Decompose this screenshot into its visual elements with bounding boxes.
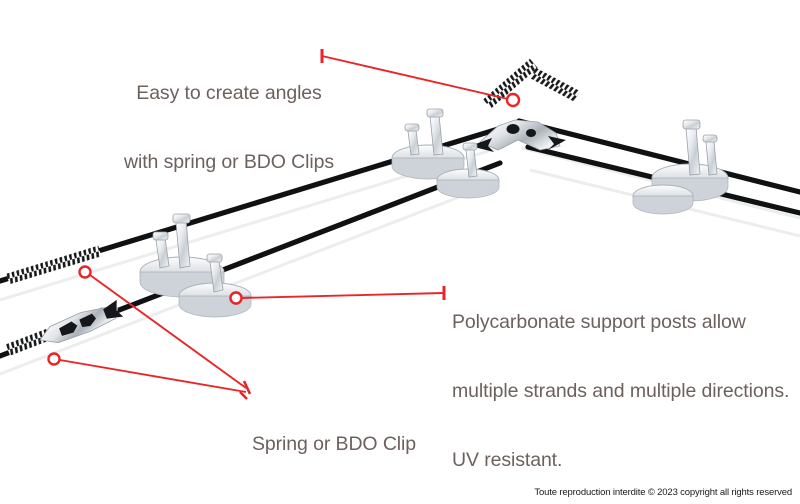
callout-angles-line1: Easy to create angles: [124, 82, 334, 105]
illustration-page: Easy to create angles with spring or BDO…: [0, 0, 800, 504]
callout-polycarbonate-line3: UV resistant.: [452, 449, 789, 472]
callout-clip-line1: Spring or BDO Clip: [252, 433, 416, 456]
corner-junction-clip: [470, 120, 566, 152]
upper-left-wire-spring: [6, 246, 101, 285]
callout-polycarbonate-line2: multiple strands and multiple directions…: [452, 380, 789, 403]
callout-easy-angles: Easy to create angles with spring or BDO…: [124, 36, 334, 220]
support-post-right: [633, 120, 728, 214]
callout-angles-line2: with spring or BDO Clips: [124, 151, 334, 174]
leader-clip-bdo: [49, 354, 247, 393]
callout-polycarbonate-line1: Polycarbonate support posts allow: [452, 311, 789, 334]
leader-polycarbonate: [231, 286, 445, 304]
copyright-notice: Toute reproduction interdite © 2023 copy…: [534, 487, 792, 498]
leader-polycarbonate-secondary: [231, 293, 242, 304]
callout-spring-bdo-clip: Spring or BDO Clip: [252, 387, 416, 502]
callout-polycarbonate-posts: Polycarbonate support posts allow multip…: [452, 265, 789, 504]
apex-spring: [483, 59, 580, 109]
